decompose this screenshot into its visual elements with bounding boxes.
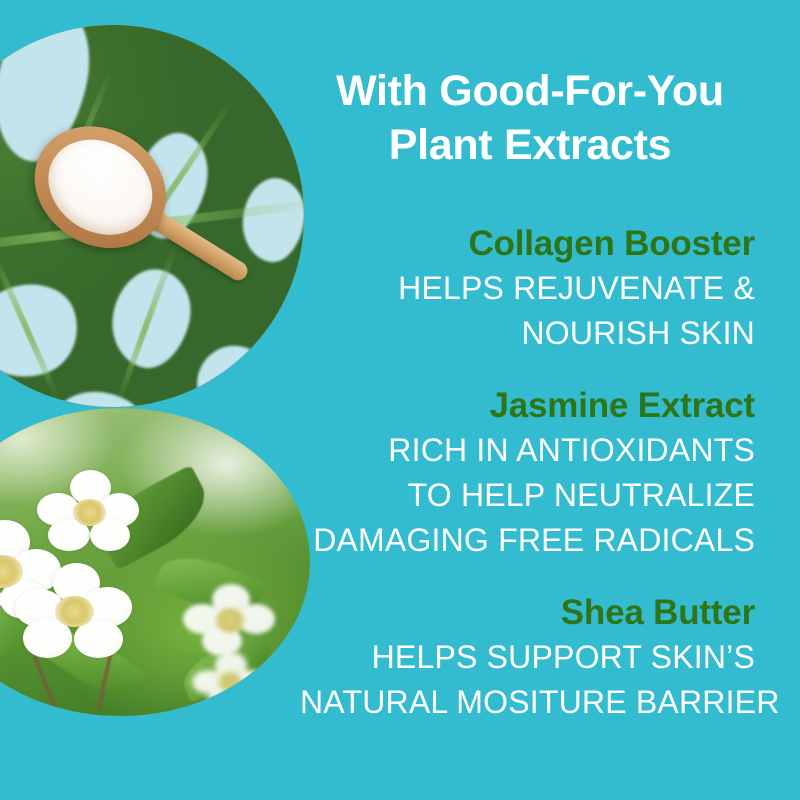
ingredient-description-line: HELPS SUPPORT SKIN’S — [300, 635, 755, 680]
ingredient-description-line: DAMAGING FREE RADICALS — [300, 518, 755, 563]
ingredient-description: RICH IN ANTIOXIDANTS TO HELP NEUTRALIZE … — [300, 428, 755, 563]
jasmine-flower — [196, 654, 264, 709]
page-title: With Good-For-You Plant Extracts — [290, 64, 770, 172]
ingredient-description-line: NOURISH SKIN — [300, 311, 755, 356]
leaf-spoon-photo — [0, 25, 304, 407]
flower-center — [215, 608, 245, 632]
ingredient-jasmine-extract: Jasmine Extract RICH IN ANTIOXIDANTS TO … — [300, 384, 755, 563]
ingredient-title: Jasmine Extract — [300, 384, 755, 428]
jasmine-photo — [0, 408, 310, 716]
jasmine-flower — [21, 568, 127, 654]
flower-center — [73, 499, 106, 526]
jasmine-flower — [44, 476, 135, 550]
image-column — [0, 0, 330, 800]
flower-center — [55, 596, 93, 627]
ingredient-description-line: NATURAL MOSITURE BARRIER — [300, 680, 755, 725]
headline-line-2: Plant Extracts — [290, 118, 770, 172]
jasmine-flower — [188, 587, 272, 655]
ingredient-shea-butter: Shea Butter HELPS SUPPORT SKIN’S NATURAL… — [300, 591, 755, 725]
ingredient-description-line: TO HELP NEUTRALIZE — [300, 473, 755, 518]
ingredient-title: Shea Butter — [300, 591, 755, 635]
ingredient-title: Collagen Booster — [300, 222, 755, 266]
ingredient-collagen-booster: Collagen Booster HELPS REJUVENATE & NOUR… — [300, 222, 755, 356]
ingredient-description: HELPS REJUVENATE & NOURISH SKIN — [300, 266, 755, 356]
ingredient-description-line: RICH IN ANTIOXIDANTS — [300, 428, 755, 473]
ingredient-description: HELPS SUPPORT SKIN’S NATURAL MOSITURE BA… — [300, 635, 755, 725]
headline-line-1: With Good-For-You — [290, 64, 770, 118]
ingredient-description-line: HELPS REJUVENATE & — [300, 266, 755, 311]
ingredient-list: Collagen Booster HELPS REJUVENATE & NOUR… — [300, 222, 755, 725]
